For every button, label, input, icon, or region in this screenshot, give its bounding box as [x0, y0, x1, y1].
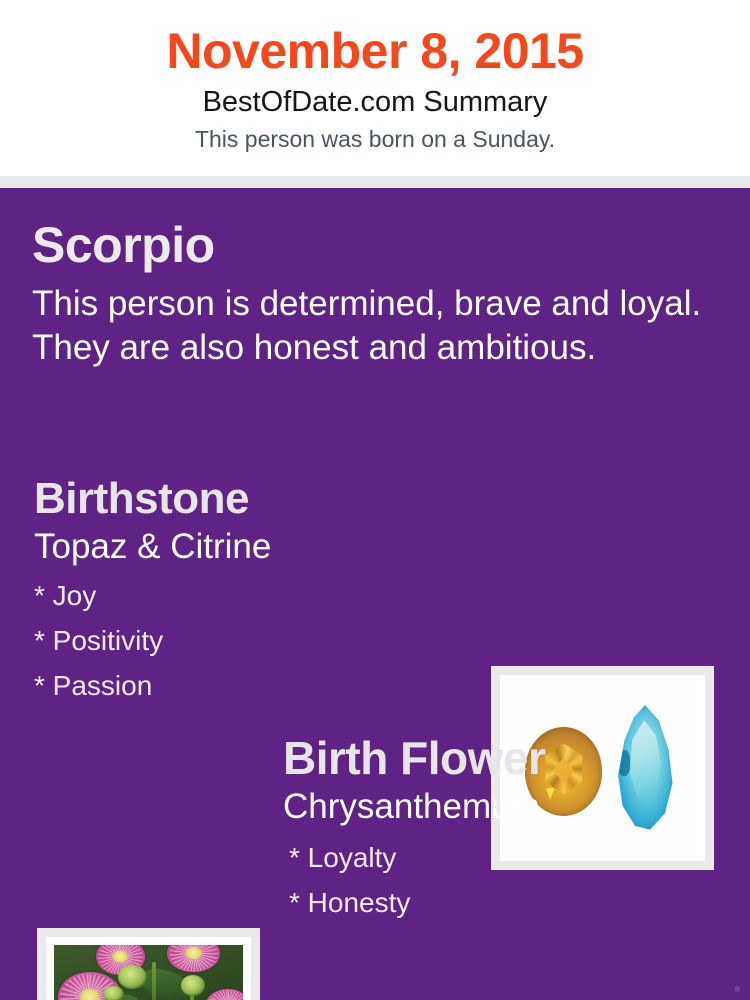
birthstone-trait-list: * Joy * Positivity * Passion	[34, 582, 474, 700]
zodiac-sign-name: Scorpio	[32, 220, 712, 270]
chrysanthemum-image	[54, 945, 243, 1000]
born-day-text: This person was born on a Sunday.	[0, 126, 750, 152]
list-item: * Joy	[34, 582, 474, 610]
birthstone-section: Birthstone Topaz & Citrine * Joy * Posit…	[34, 477, 474, 717]
flower-bud-icon	[118, 965, 146, 989]
birthflower-image-mat	[46, 937, 251, 1000]
birthstone-title: Birthstone	[34, 477, 474, 521]
details-panel: Scorpio This person is determined, brave…	[0, 188, 750, 1000]
birthstone-subtitle: Topaz & Citrine	[34, 528, 474, 566]
summary-page: November 8, 2015 BestOfDate.com Summary …	[0, 0, 750, 1000]
list-item: * Positivity	[34, 627, 474, 655]
list-item: * Honesty	[289, 889, 723, 917]
stem-icon	[152, 962, 156, 1000]
flower-bud-icon	[181, 975, 206, 995]
list-item: * Passion	[34, 672, 474, 700]
zodiac-section: Scorpio This person is determined, brave…	[32, 220, 712, 370]
birthflower-title: Birth Flower	[283, 735, 723, 781]
page-title: November 8, 2015	[0, 24, 750, 78]
birthflower-trait-list: * Loyalty * Honesty	[283, 844, 723, 917]
birthflower-section: Birth Flower Chrysanthemum * Loyalty * H…	[283, 735, 723, 934]
page-header: November 8, 2015 BestOfDate.com Summary …	[0, 0, 750, 176]
flower-bud-icon	[103, 986, 124, 1000]
birthflower-subtitle: Chrysanthemum	[283, 788, 723, 826]
list-item: * Loyalty	[289, 844, 723, 872]
birthflower-image-frame	[37, 928, 260, 1000]
header-divider	[0, 176, 750, 188]
flower-bloom-icon	[167, 945, 220, 972]
zodiac-description: This person is determined, brave and loy…	[32, 282, 702, 370]
corner-mark	[734, 986, 740, 992]
site-summary-label: BestOfDate.com Summary	[0, 86, 750, 119]
